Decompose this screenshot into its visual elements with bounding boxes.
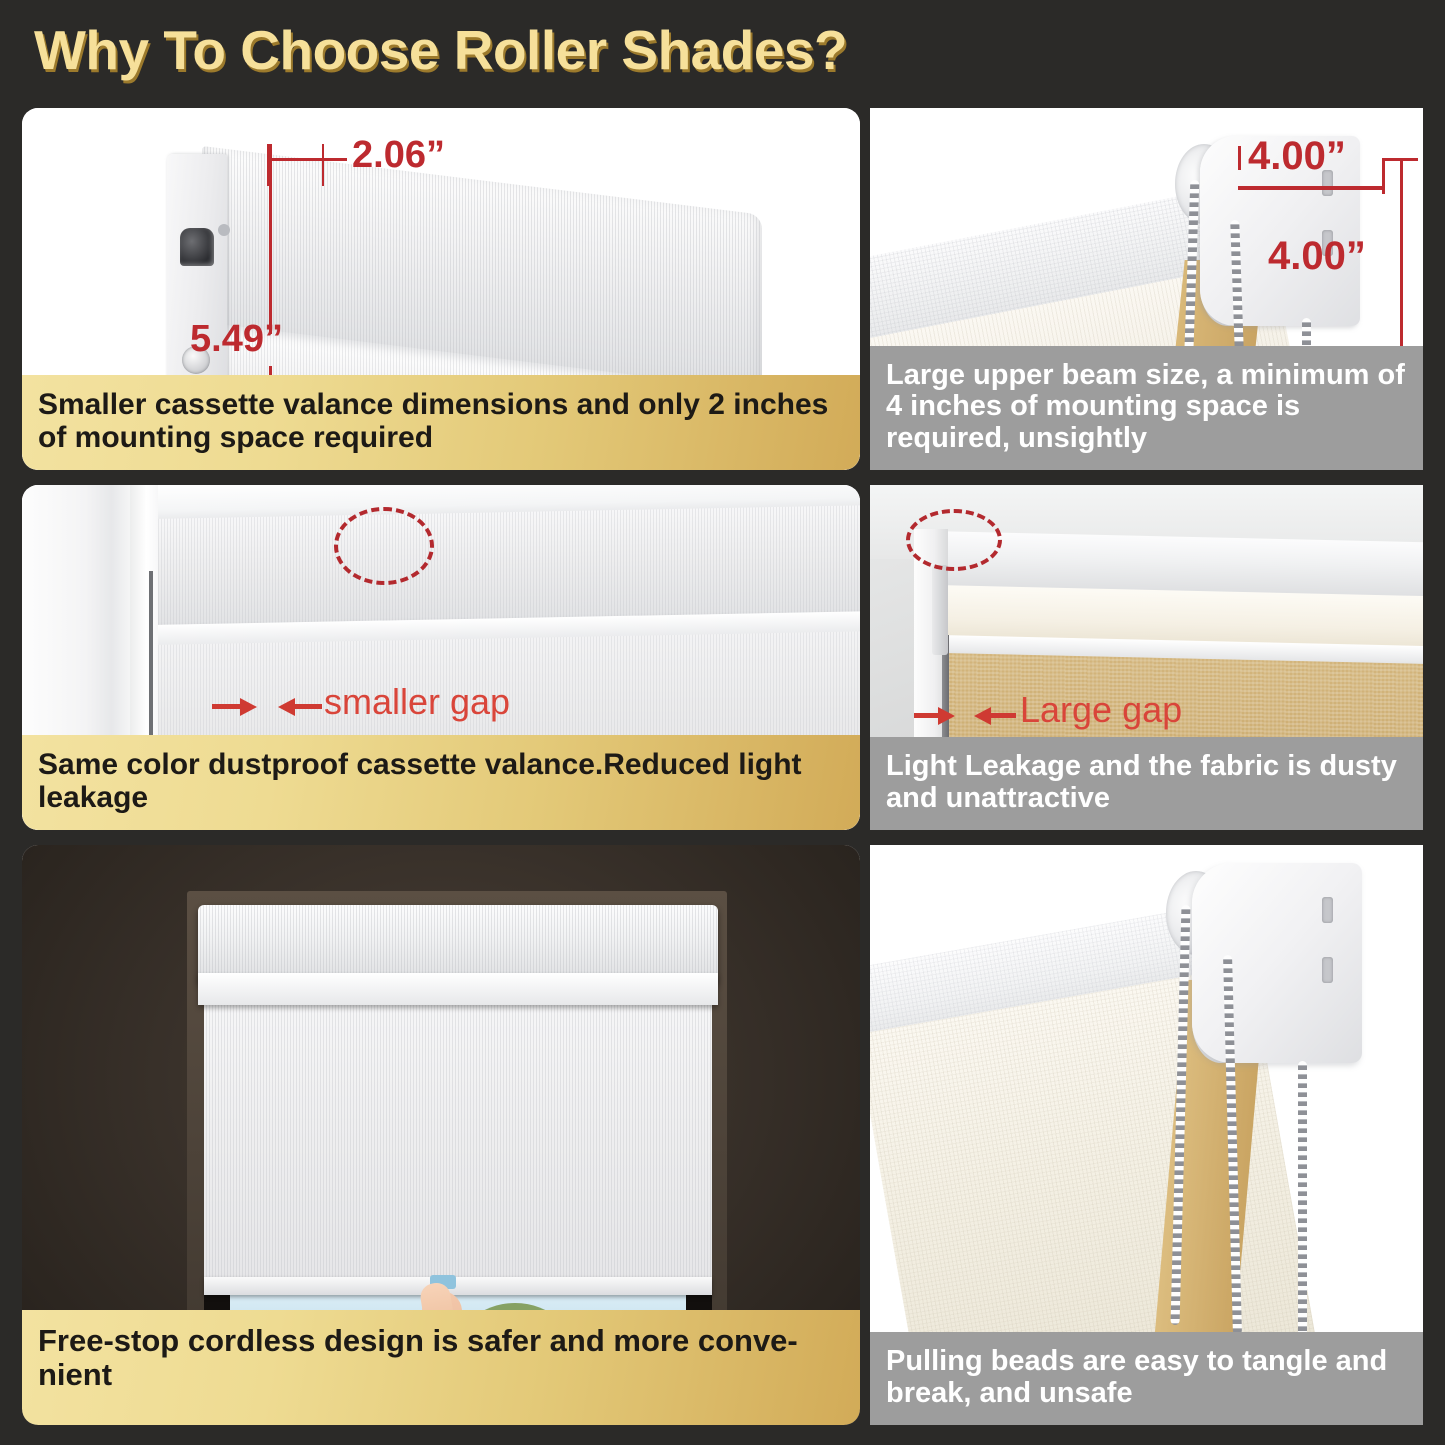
panel-smaller-cassette[interactable]: 2.06” 5.49” Smaller cassette valance dim… xyxy=(22,108,860,470)
beam-width-tick-left xyxy=(1238,146,1241,170)
width-dim-arrow-line xyxy=(267,158,347,161)
infographic-root: Why To Choose Roller Shades? 2.06” xyxy=(0,0,1445,1445)
bead-chain-right xyxy=(1298,1061,1307,1337)
panel-large-upper-beam[interactable]: 4.00” 4.00” Large upper beam size, a min… xyxy=(870,108,1423,470)
end-cap-pin-icon xyxy=(218,224,230,236)
beam-height-tick-top xyxy=(1382,158,1418,161)
panel-1-caption: Smaller cassette valance dimensions and … xyxy=(22,375,860,470)
beam-height-line xyxy=(1400,158,1403,354)
cassette-valance-lip xyxy=(198,973,718,1005)
height-dimension-label: 5.49” xyxy=(190,318,283,361)
panel-dustproof-cassette[interactable]: smaller gap Same color dustproof cassett… xyxy=(22,485,860,830)
gap-arrow-tail-right xyxy=(990,713,1016,718)
bracket-clip xyxy=(932,565,948,655)
width-dimension-label: 2.06” xyxy=(352,134,445,177)
panel-cordless-design[interactable]: Free-stop cordless design is safer and m… xyxy=(22,845,860,1425)
bracket-slot-icon xyxy=(1322,897,1333,923)
large-gap-label: Large gap xyxy=(1020,689,1182,731)
gap-arrow-tail-left xyxy=(212,704,242,709)
panel-3-caption: Same color dustproof cassette valance.Re… xyxy=(22,735,860,830)
beam-width-tick-right xyxy=(1382,158,1385,194)
width-dim-tick-right xyxy=(322,144,324,186)
panel-4-caption: Light Leakage and the fabric is dusty an… xyxy=(870,737,1423,830)
comparison-grid: 2.06” 5.49” Smaller cassette valance dim… xyxy=(0,108,1445,1438)
cassette-valance xyxy=(150,503,860,627)
panel-pulling-beads[interactable]: Pulling beads are easy to tangle and bre… xyxy=(870,845,1423,1425)
gap-arrow-tail-left xyxy=(914,713,940,718)
gap-arrow-tail-right xyxy=(294,704,322,709)
roller-shade-fabric xyxy=(204,1003,712,1283)
bracket-slot-icon xyxy=(1322,957,1333,983)
panel-light-leakage[interactable]: Large gap Light Leakage and the fabric i… xyxy=(870,485,1423,830)
panel-6-caption: Pulling beads are easy to tangle and bre… xyxy=(870,1332,1423,1425)
end-cap-slot-icon xyxy=(180,228,214,266)
highlight-circle-icon xyxy=(906,509,1002,571)
gap-arrow-right-icon xyxy=(240,698,257,716)
smaller-gap-label: smaller gap xyxy=(324,681,510,723)
beam-height-label: 4.00” xyxy=(1268,234,1366,279)
shade-hem-bar xyxy=(204,1277,712,1295)
cassette-valance xyxy=(198,905,718,983)
panel-2-caption: Large upper beam size, a minimum of 4 in… xyxy=(870,346,1423,470)
height-dim-line-upper xyxy=(269,144,272,334)
highlight-circle-icon xyxy=(334,507,434,585)
gap-arrow-left-icon xyxy=(974,707,991,725)
mounting-bracket xyxy=(1192,863,1362,1063)
gap-arrow-left-icon xyxy=(278,698,295,716)
panel-5-caption: Free-stop cordless design is safer and m… xyxy=(22,1310,860,1425)
beam-width-label: 4.00” xyxy=(1248,134,1346,179)
page-title: Why To Choose Roller Shades? xyxy=(34,18,847,82)
gap-arrow-right-icon xyxy=(938,707,955,725)
beam-width-line xyxy=(1238,186,1384,190)
